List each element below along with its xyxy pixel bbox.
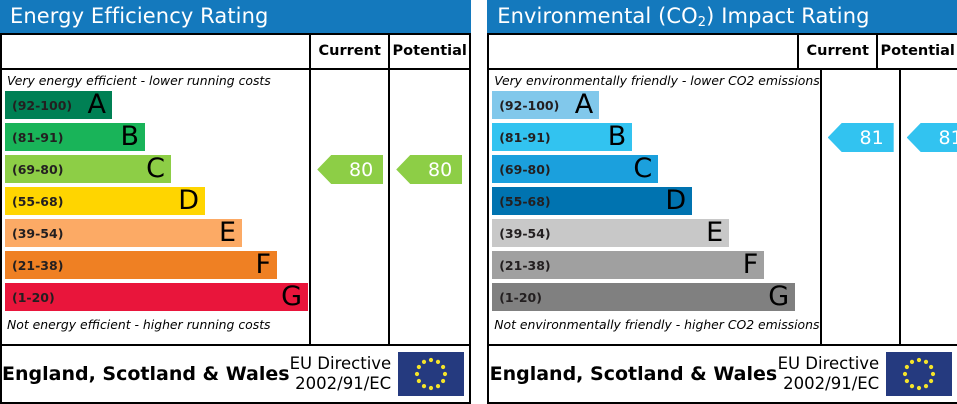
energy-efficiency-panel: Energy Efficiency Rating Current Potenti… xyxy=(0,0,471,404)
energy-band-b-range: (81-91) xyxy=(5,130,63,145)
co2-current-rating-value: 81 xyxy=(860,127,884,149)
energy-band-c-letter: C xyxy=(146,155,165,182)
co2-band-e-letter: E xyxy=(706,219,723,246)
energy-band-f-range: (21-38) xyxy=(5,258,63,273)
co2-impact-grid: Current Potential Very environmentally f… xyxy=(487,33,957,404)
co2-potential-rating-cell: 81 xyxy=(901,70,957,344)
eu-flag-icon xyxy=(398,352,464,396)
co2-column-header-potential: Potential xyxy=(878,35,957,68)
energy-header-blank-cell xyxy=(2,35,311,68)
co2-footer-region: England, Scotland & Wales xyxy=(489,346,777,402)
energy-band-e-letter: E xyxy=(219,219,236,246)
co2-impact-title: Environmental (CO2) Impact Rating xyxy=(487,0,957,33)
co2-band-a-range: (92-100) xyxy=(492,98,559,113)
co2-bands-column: Very environmentally friendly - lower CO… xyxy=(489,70,821,344)
energy-footer-region: England, Scotland & Wales xyxy=(2,346,290,402)
co2-band-a: (92-100) A xyxy=(492,91,599,119)
energy-band-d-letter: D xyxy=(178,187,199,214)
epc-charts-container: Energy Efficiency Rating Current Potenti… xyxy=(0,0,957,404)
energy-footer-directive-line1: EU Directive xyxy=(290,354,392,374)
co2-current-rating-arrow: 81 xyxy=(828,123,894,152)
co2-band-d-range: (55-68) xyxy=(492,194,550,209)
energy-band-c-range: (69-80) xyxy=(5,162,63,177)
energy-band-f-letter: F xyxy=(255,251,271,278)
energy-footer-directive-line2: 2002/91/EC xyxy=(295,374,391,394)
energy-potential-rating-cell: 80 xyxy=(390,70,469,344)
co2-band-c: (69-80) C xyxy=(492,155,658,183)
energy-band-d: (55-68) D xyxy=(5,187,205,215)
co2-band-e: (39-54) E xyxy=(492,219,729,247)
co2-title-subscript: 2 xyxy=(698,15,706,30)
energy-caption-bottom: Not energy efficient - higher running co… xyxy=(2,315,309,336)
co2-current-rating-cell: 81 xyxy=(822,70,901,344)
co2-caption-top: Very environmentally friendly - lower CO… xyxy=(489,70,819,91)
co2-footer-directive: EU Directive 2002/91/EC xyxy=(778,346,887,402)
energy-footer-directive: EU Directive 2002/91/EC xyxy=(290,346,399,402)
energy-caption-top: Very energy efficient - lower running co… xyxy=(2,70,309,91)
co2-band-b-range: (81-91) xyxy=(492,130,550,145)
co2-band-e-range: (39-54) xyxy=(492,226,550,241)
co2-header-row: Current Potential xyxy=(489,35,957,70)
co2-band-f-range: (21-38) xyxy=(492,258,550,273)
co2-band-f-letter: F xyxy=(743,251,759,278)
energy-body-row: Very energy efficient - lower running co… xyxy=(2,70,469,346)
co2-impact-panel: Environmental (CO2) Impact Rating Curren… xyxy=(487,0,957,404)
energy-band-a-letter: A xyxy=(88,91,106,118)
energy-band-b: (81-91) B xyxy=(5,123,145,151)
energy-band-d-range: (55-68) xyxy=(5,194,63,209)
co2-band-d: (55-68) D xyxy=(492,187,692,215)
energy-header-row: Current Potential xyxy=(2,35,469,70)
energy-column-header-current: Current xyxy=(311,35,390,68)
energy-potential-rating-arrow: 80 xyxy=(396,155,462,184)
co2-band-f: (21-38) F xyxy=(492,251,764,279)
energy-footer-row: England, Scotland & Wales EU Directive 2… xyxy=(2,346,469,402)
co2-band-g: (1-20) G xyxy=(492,283,795,311)
co2-potential-rating-value: 81 xyxy=(939,127,957,149)
co2-band-c-letter: C xyxy=(633,155,652,182)
co2-title-prefix: Environmental (CO xyxy=(497,4,698,28)
eu-flag-icon xyxy=(886,352,952,396)
co2-body-row: Very environmentally friendly - lower CO… xyxy=(489,70,957,346)
energy-efficiency-title: Energy Efficiency Rating xyxy=(0,0,471,33)
co2-band-c-range: (69-80) xyxy=(492,162,550,177)
co2-band-b-letter: B xyxy=(608,123,627,150)
energy-band-c: (69-80) C xyxy=(5,155,171,183)
energy-band-b-letter: B xyxy=(120,123,139,150)
energy-band-a: (92-100) A xyxy=(5,91,112,119)
energy-band-e-range: (39-54) xyxy=(5,226,63,241)
co2-header-blank-cell xyxy=(489,35,799,68)
co2-caption-bottom: Not environmentally friendly - higher CO… xyxy=(489,315,819,336)
energy-potential-rating-value: 80 xyxy=(428,159,452,181)
co2-footer-row: England, Scotland & Wales EU Directive 2… xyxy=(489,346,957,402)
co2-band-b: (81-91) B xyxy=(492,123,632,151)
co2-band-g-letter: G xyxy=(768,283,789,310)
energy-band-g-range: (1-20) xyxy=(5,290,55,305)
energy-band-f: (21-38) F xyxy=(5,251,277,279)
energy-efficiency-grid: Current Potential Very energy efficient … xyxy=(0,33,471,404)
co2-title-suffix: ) Impact Rating xyxy=(706,4,869,28)
co2-column-header-current: Current xyxy=(799,35,878,68)
energy-band-list: (92-100) A (81-91) B (69-80) C (55-68) xyxy=(2,91,309,315)
energy-current-rating-value: 80 xyxy=(349,159,373,181)
energy-column-header-potential: Potential xyxy=(390,35,469,68)
energy-band-g-letter: G xyxy=(281,283,302,310)
co2-footer-directive-line2: 2002/91/EC xyxy=(783,374,879,394)
energy-band-e: (39-54) E xyxy=(5,219,242,247)
co2-band-a-letter: A xyxy=(575,91,593,118)
co2-footer-directive-line1: EU Directive xyxy=(778,354,880,374)
co2-band-g-range: (1-20) xyxy=(492,290,542,305)
co2-band-list: (92-100) A (81-91) B (69-80) C (55-68) xyxy=(489,91,819,315)
energy-band-a-range: (92-100) xyxy=(5,98,72,113)
energy-current-rating-cell: 80 xyxy=(311,70,390,344)
co2-potential-rating-arrow: 81 xyxy=(907,123,957,152)
co2-band-d-letter: D xyxy=(665,187,686,214)
energy-band-g: (1-20) G xyxy=(5,283,308,311)
energy-current-rating-arrow: 80 xyxy=(317,155,383,184)
energy-bands-column: Very energy efficient - lower running co… xyxy=(2,70,311,344)
